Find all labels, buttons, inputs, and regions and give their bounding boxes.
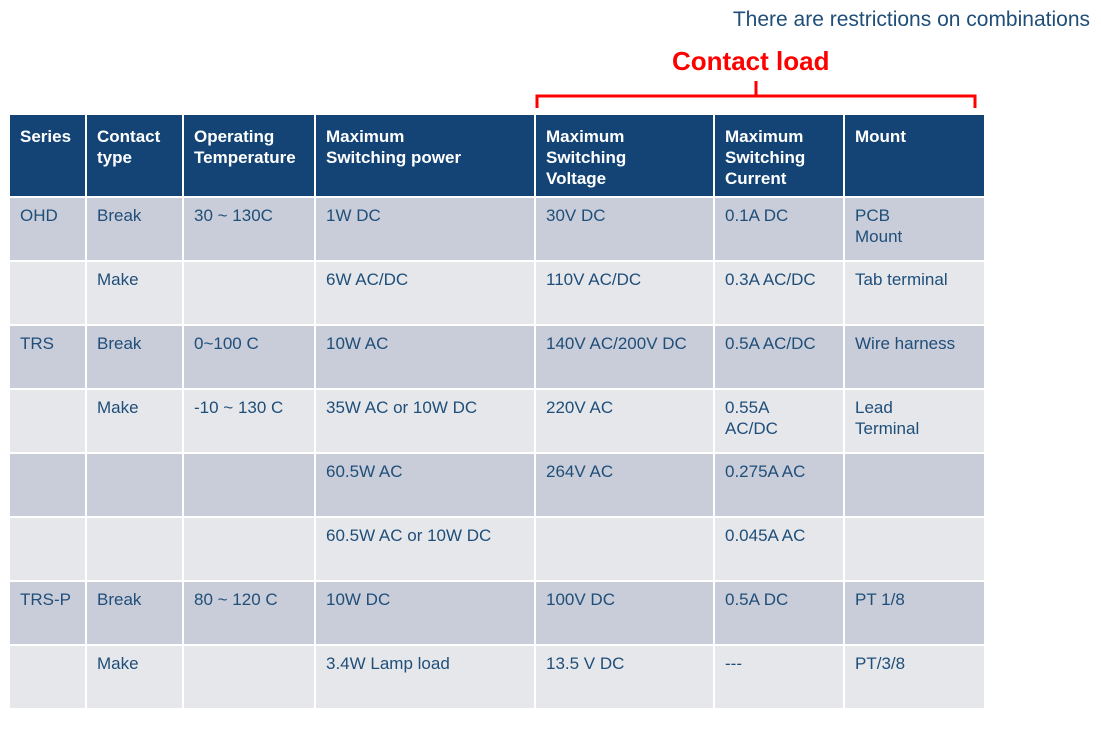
cell-mount: PT/3/8: [845, 646, 984, 708]
cell-text: Lead: [855, 397, 975, 418]
header-text-line2: Switching: [546, 147, 704, 168]
cell-mount: Tab terminal: [845, 262, 984, 324]
cell-contact-type: Make: [87, 390, 182, 452]
cell-text: 0.55A: [725, 397, 834, 418]
cell-max-switching-current: 0.045A AC: [715, 518, 843, 580]
cell-operating-temperature: [184, 262, 314, 324]
cell-series: TRS-P: [10, 582, 85, 644]
cell-text: 13.5 V DC: [546, 653, 704, 674]
cell-text: 35W AC or 10W DC: [326, 397, 525, 418]
cell-text: 0.3A AC/DC: [725, 269, 834, 290]
cell-series: [10, 262, 85, 324]
cell-mount: Wire harness: [845, 326, 984, 388]
cell-series: [10, 646, 85, 708]
header-text-line1: Maximum: [546, 126, 704, 147]
cell-max-switching-current: 0.3A AC/DC: [715, 262, 843, 324]
header-text-line2: type: [97, 147, 173, 168]
cell-max-switching-power: 35W AC or 10W DC: [316, 390, 534, 452]
cell-text: AC/DC: [725, 418, 834, 439]
table-row: TRSBreak0~100 C10W AC140V AC/200V DC0.5A…: [10, 326, 984, 388]
column-header-maximum-switching-voltage: Maximum Switching Voltage: [536, 115, 713, 196]
cell-text: 60.5W AC or 10W DC: [326, 525, 525, 546]
header-text-line1: Operating: [194, 126, 305, 147]
table-row: Make6W AC/DC110V AC/DC0.3A AC/DCTab term…: [10, 262, 984, 324]
cell-max-switching-voltage: 264V AC: [536, 454, 713, 516]
header-text-line3: Current: [725, 168, 834, 189]
column-header-maximum-switching-current: Maximum Switching Current: [715, 115, 843, 196]
table-row: TRS-PBreak80 ~ 120 C10W DC100V DC0.5A DC…: [10, 582, 984, 644]
column-header-series: Series: [10, 115, 85, 196]
cell-text: 30V DC: [546, 205, 704, 226]
cell-operating-temperature: 80 ~ 120 C: [184, 582, 314, 644]
cell-text: 140V AC/200V DC: [546, 333, 704, 354]
cell-text: 264V AC: [546, 461, 704, 482]
cell-text: 60.5W AC: [326, 461, 525, 482]
cell-contact-type: [87, 518, 182, 580]
cell-max-switching-power: 60.5W AC: [316, 454, 534, 516]
cell-max-switching-power: 3.4W Lamp load: [316, 646, 534, 708]
header-text-line2: Switching power: [326, 147, 525, 168]
column-header-contact-type: Contact type: [87, 115, 182, 196]
cell-text: Break: [97, 589, 173, 610]
cell-text: 110V AC/DC: [546, 269, 704, 290]
cell-max-switching-current: 0.1A DC: [715, 198, 843, 260]
header-text-line1: Maximum: [725, 126, 834, 147]
cell-mount: [845, 518, 984, 580]
cell-text: Make: [97, 653, 173, 674]
table-row: Make3.4W Lamp load13.5 V DC---PT/3/8: [10, 646, 984, 708]
cell-operating-temperature: [184, 454, 314, 516]
cell-text: 0.1A DC: [725, 205, 834, 226]
cell-text: 0~100 C: [194, 333, 305, 354]
cell-mount: [845, 454, 984, 516]
cell-text: 220V AC: [546, 397, 704, 418]
cell-text: Break: [97, 333, 173, 354]
cell-contact-type: Make: [87, 262, 182, 324]
table-row: OHDBreak30 ~ 130C1W DC30V DC0.1A DCPCBMo…: [10, 198, 984, 260]
cell-max-switching-voltage: [536, 518, 713, 580]
table-body: OHDBreak30 ~ 130C1W DC30V DC0.1A DCPCBMo…: [10, 198, 984, 708]
header-text: Series: [20, 126, 76, 147]
cell-operating-temperature: [184, 646, 314, 708]
cell-max-switching-power: 10W AC: [316, 326, 534, 388]
column-header-maximum-switching-power: Maximum Switching power: [316, 115, 534, 196]
cell-series: TRS: [10, 326, 85, 388]
cell-text: 3.4W Lamp load: [326, 653, 525, 674]
header-text-line2: Temperature: [194, 147, 305, 168]
cell-text: 100V DC: [546, 589, 704, 610]
cell-contact-type: [87, 454, 182, 516]
cell-operating-temperature: [184, 518, 314, 580]
header-text-line1: Contact: [97, 126, 173, 147]
cell-text: 0.5A AC/DC: [725, 333, 834, 354]
cell-text: Tab terminal: [855, 269, 975, 290]
cell-max-switching-power: 6W AC/DC: [316, 262, 534, 324]
header-text-line1: Maximum: [326, 126, 525, 147]
cell-max-switching-voltage: 140V AC/200V DC: [536, 326, 713, 388]
header-text: Mount: [855, 126, 975, 147]
cell-text: 0.275A AC: [725, 461, 834, 482]
cell-text: Make: [97, 397, 173, 418]
cell-max-switching-current: ---: [715, 646, 843, 708]
cell-operating-temperature: 30 ~ 130C: [184, 198, 314, 260]
column-header-mount: Mount: [845, 115, 984, 196]
table-row: 60.5W AC264V AC0.275A AC: [10, 454, 984, 516]
cell-max-switching-voltage: 100V DC: [536, 582, 713, 644]
cell-text: PCB: [855, 205, 975, 226]
contact-load-spec-table: Series Contact type Operating Temperatur…: [8, 113, 986, 710]
column-header-operating-temperature: Operating Temperature: [184, 115, 314, 196]
header-text-line3: Voltage: [546, 168, 704, 189]
cell-max-switching-current: 0.275A AC: [715, 454, 843, 516]
cell-text: 10W AC: [326, 333, 525, 354]
cell-text: PT/3/8: [855, 653, 975, 674]
cell-max-switching-voltage: 220V AC: [536, 390, 713, 452]
cell-max-switching-power: 1W DC: [316, 198, 534, 260]
cell-series: [10, 454, 85, 516]
cell-text: Break: [97, 205, 173, 226]
cell-max-switching-voltage: 13.5 V DC: [536, 646, 713, 708]
header-text-line2: Switching: [725, 147, 834, 168]
cell-max-switching-current: 0.55AAC/DC: [715, 390, 843, 452]
cell-max-switching-current: 0.5A AC/DC: [715, 326, 843, 388]
cell-series: OHD: [10, 198, 85, 260]
cell-max-switching-voltage: 110V AC/DC: [536, 262, 713, 324]
contact-load-bracket-icon: [534, 78, 978, 108]
table-row: 60.5W AC or 10W DC0.045A AC: [10, 518, 984, 580]
cell-text: 1W DC: [326, 205, 525, 226]
cell-text: Wire harness: [855, 333, 975, 354]
cell-text: 10W DC: [326, 589, 525, 610]
contact-load-label: Contact load: [672, 46, 829, 76]
table-row: Make-10 ~ 130 C35W AC or 10W DC220V AC0.…: [10, 390, 984, 452]
cell-text: Make: [97, 269, 173, 290]
cell-text: Mount: [855, 226, 975, 247]
cell-mount: PCBMount: [845, 198, 984, 260]
cell-contact-type: Make: [87, 646, 182, 708]
cell-text: TRS-P: [20, 589, 76, 610]
cell-text: 0.5A DC: [725, 589, 834, 610]
cell-mount: PT 1/8: [845, 582, 984, 644]
cell-contact-type: Break: [87, 198, 182, 260]
cell-text: 0.045A AC: [725, 525, 834, 546]
table-header-row: Series Contact type Operating Temperatur…: [10, 115, 984, 196]
cell-text: OHD: [20, 205, 76, 226]
cell-contact-type: Break: [87, 582, 182, 644]
cell-text: Terminal: [855, 418, 975, 439]
cell-max-switching-power: 10W DC: [316, 582, 534, 644]
cell-mount: LeadTerminal: [845, 390, 984, 452]
cell-operating-temperature: -10 ~ 130 C: [184, 390, 314, 452]
cell-text: TRS: [20, 333, 76, 354]
cell-contact-type: Break: [87, 326, 182, 388]
cell-text: 30 ~ 130C: [194, 205, 305, 226]
cell-series: [10, 518, 85, 580]
restrictions-note: There are restrictions on combinations: [0, 7, 1090, 33]
cell-text: 6W AC/DC: [326, 269, 525, 290]
cell-max-switching-current: 0.5A DC: [715, 582, 843, 644]
cell-text: PT 1/8: [855, 589, 975, 610]
cell-text: ---: [725, 653, 834, 674]
cell-text: -10 ~ 130 C: [194, 397, 305, 418]
cell-max-switching-voltage: 30V DC: [536, 198, 713, 260]
cell-max-switching-power: 60.5W AC or 10W DC: [316, 518, 534, 580]
cell-text: 80 ~ 120 C: [194, 589, 305, 610]
cell-series: [10, 390, 85, 452]
cell-operating-temperature: 0~100 C: [184, 326, 314, 388]
